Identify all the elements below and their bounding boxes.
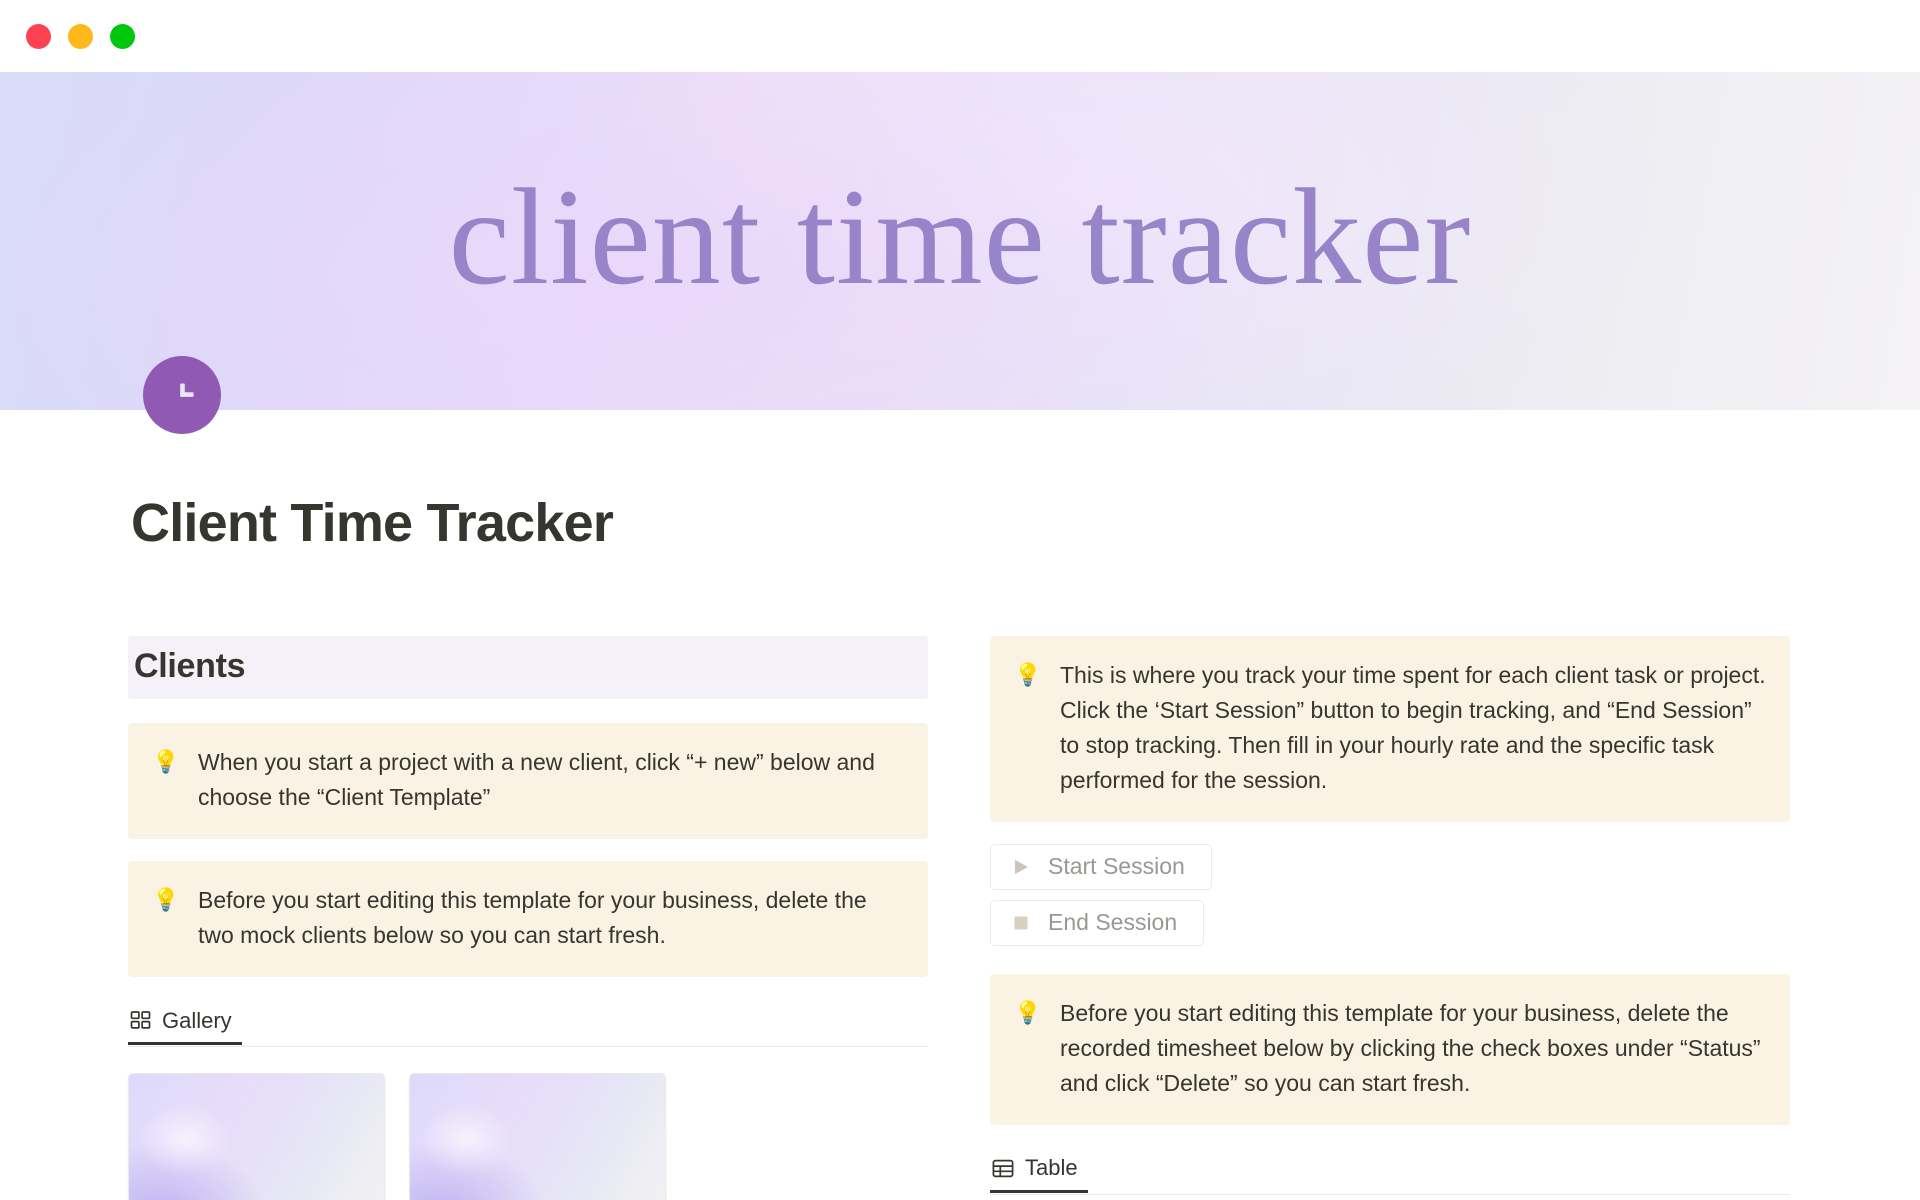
tab-gallery-label: Gallery [162, 1008, 232, 1034]
clients-section-heading: Clients [128, 636, 928, 699]
clients-view-tabs: Gallery [128, 999, 928, 1047]
timesheet-view-tabs: Table [990, 1147, 1790, 1195]
start-session-label: Start Session [1048, 853, 1185, 880]
start-session-button[interactable]: Start Session [990, 844, 1212, 890]
lightbulb-icon: 💡 [152, 883, 176, 916]
callout-time-tracking-text: This is where you track your time spent … [1060, 658, 1766, 798]
page-cover-banner[interactable]: client time tracker [0, 72, 1920, 410]
table-grid-icon [992, 1158, 1014, 1179]
lightbulb-icon: 💡 [1014, 996, 1038, 1029]
play-triangle-icon [1011, 857, 1031, 877]
traffic-light-group [26, 24, 135, 49]
start-session-row: Start Session [990, 844, 1790, 900]
clock-icon[interactable] [143, 356, 221, 434]
client-card[interactable]: 😁 Mock Client 1 [128, 1073, 385, 1200]
close-window-button[interactable] [26, 24, 51, 49]
client-card-cover [410, 1074, 665, 1200]
tab-table-label: Table [1025, 1155, 1078, 1181]
left-column: Clients 💡 When you start a project with … [128, 636, 928, 1200]
session-button-group: Start Session End Session [990, 844, 1790, 956]
page-columns: Clients 💡 When you start a project with … [0, 636, 1920, 1200]
app-window: client time tracker Client Time Tracker … [0, 0, 1920, 1200]
right-column: 💡 This is where you track your time spen… [990, 636, 1790, 1200]
lightbulb-icon: 💡 [152, 745, 176, 778]
maximize-window-button[interactable] [110, 24, 135, 49]
client-card[interactable]: 😁 Mock Client 2 [409, 1073, 666, 1200]
tab-table[interactable]: Table [990, 1147, 1088, 1193]
page-title: Client Time Tracker [131, 492, 613, 554]
callout-delete-mock-clients: 💡 Before you start editing this template… [128, 861, 928, 977]
callout-time-tracking-instructions: 💡 This is where you track your time spen… [990, 636, 1790, 822]
end-session-row: End Session [990, 900, 1790, 956]
stop-square-icon [1011, 913, 1031, 933]
callout-delete-timesheet: 💡 Before you start editing this template… [990, 974, 1790, 1125]
clients-gallery: 😁 Mock Client 1 😁 Mock Client 2 [128, 1073, 928, 1200]
gallery-grid-icon [130, 1010, 151, 1031]
callout-new-client: 💡 When you start a project with a new cl… [128, 723, 928, 839]
window-titlebar [0, 0, 1920, 72]
client-card-cover [129, 1074, 384, 1200]
banner-title-text: client time tracker [0, 168, 1920, 306]
callout-delete-timesheet-text: Before you start editing this template f… [1060, 996, 1766, 1101]
end-session-button[interactable]: End Session [990, 900, 1204, 946]
clients-heading-text: Clients [134, 648, 922, 685]
minimize-window-button[interactable] [68, 24, 93, 49]
lightbulb-icon: 💡 [1014, 658, 1038, 691]
callout-delete-mock-clients-text: Before you start editing this template f… [198, 883, 904, 953]
tab-gallery[interactable]: Gallery [128, 999, 242, 1045]
end-session-label: End Session [1048, 909, 1177, 936]
callout-new-client-text: When you start a project with a new clie… [198, 745, 904, 815]
